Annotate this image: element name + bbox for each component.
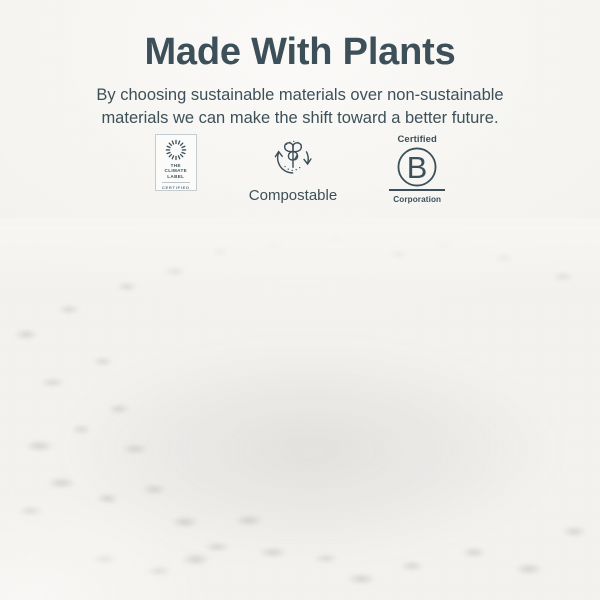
compostable-label: Compostable — [249, 187, 337, 204]
climate-label-card: THE CLIMATE LABEL CERTIFIED — [155, 134, 197, 191]
bcorp-corporation-text: Corporation — [393, 195, 441, 204]
b-corp-icon: B — [396, 146, 438, 188]
bcorp-divider — [389, 189, 445, 191]
bcorp-certified-text: Certified — [397, 134, 436, 145]
badge-climate-label: THE CLIMATE LABEL CERTIFIED — [155, 134, 197, 191]
page-title: Made With Plants — [0, 30, 600, 74]
climate-label-certified-text: CERTIFIED — [162, 185, 190, 190]
climate-label-line-3: LABEL — [165, 174, 188, 180]
svg-text:B: B — [407, 150, 428, 185]
pile-drop-shadow — [0, 300, 600, 600]
compostable-clover-arrows-icon — [267, 134, 319, 180]
climate-label-divider — [162, 182, 190, 183]
product-hero-graphic: Made With Plants By choosing sustainable… — [0, 0, 600, 600]
header-block: Made With Plants By choosing sustainable… — [0, 30, 600, 130]
certification-badge-row: THE CLIMATE LABEL CERTIFIED — [0, 134, 600, 204]
sunburst-icon — [163, 139, 189, 161]
badge-compostable: Compostable — [249, 134, 337, 204]
page-subtitle: By choosing sustainable materials over n… — [65, 84, 535, 130]
badge-b-corporation: Certified B Corporation — [389, 134, 445, 204]
